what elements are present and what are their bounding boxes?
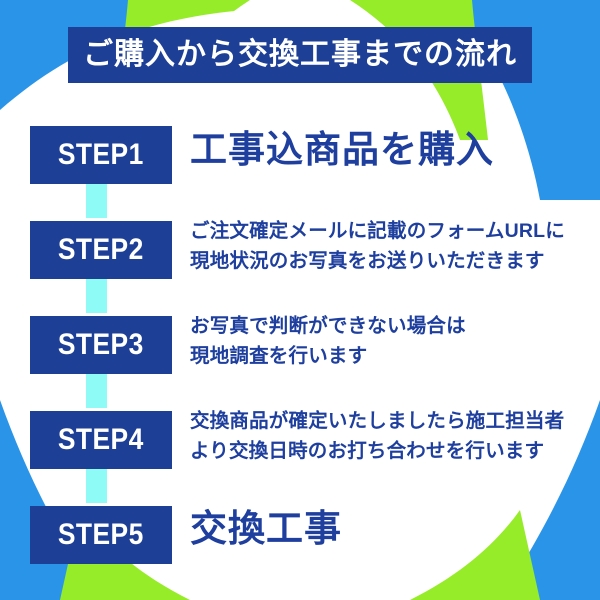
step-description-4-line-2: より交換日時のお打ち合わせを行います — [190, 436, 564, 466]
step-badge-1[interactable]: STEP1 — [30, 126, 172, 184]
step-description-5: 交換工事 — [190, 509, 342, 550]
step-connector-2-3 — [86, 279, 107, 313]
step-badge-label-4: STEP4 — [58, 425, 144, 455]
step-description-3-line-1: お写真で判断ができない場合は — [190, 311, 466, 341]
step-badge-label-2: STEP2 — [58, 235, 144, 265]
step-badge-2[interactable]: STEP2 — [30, 221, 172, 279]
step-connector-4-5 — [86, 469, 107, 503]
step-badge-5[interactable]: STEP5 — [30, 506, 172, 564]
infographic-canvas: ご購入から交換工事までの流れ STEP1 工事込商品を購入 STEP2 ご注文確… — [0, 0, 600, 600]
step-badge-label-1: STEP1 — [58, 140, 144, 170]
step-description-2-line-2: 現地状況のお写真をお送りいただきます — [190, 246, 565, 276]
step-badge-3[interactable]: STEP3 — [30, 316, 172, 374]
page-title: ご購入から交換工事までの流れ — [83, 40, 517, 70]
bottom-right-green-shape — [410, 510, 540, 600]
step-description-4: 交換商品が確定いたしましたら施工担当者 より交換日時のお打ち合わせを行います — [190, 406, 564, 466]
step-description-1: 工事込商品を購入 — [190, 130, 494, 171]
step-description-3: お写真で判断ができない場合は 現地調査を行います — [190, 311, 466, 371]
step-description-3-line-2: 現地調査を行います — [190, 341, 466, 371]
step-badge-label-3: STEP3 — [58, 330, 144, 360]
step-badge-label-5: STEP5 — [58, 520, 144, 550]
step-description-2-line-1: ご注文確定メールに記載のフォームURLに — [190, 216, 565, 246]
step-connector-3-4 — [86, 374, 107, 408]
step-description-2: ご注文確定メールに記載のフォームURLに 現地状況のお写真をお送りいただきます — [190, 216, 565, 276]
step-badge-4[interactable]: STEP4 — [30, 411, 172, 469]
step-description-5-line-1: 交換工事 — [190, 509, 342, 550]
header-title-bar: ご購入から交換工事までの流れ — [68, 27, 532, 83]
step-connector-1-2 — [86, 184, 107, 218]
step-description-1-line-1: 工事込商品を購入 — [190, 130, 494, 171]
step-description-4-line-1: 交換商品が確定いたしましたら施工担当者 — [190, 406, 564, 436]
